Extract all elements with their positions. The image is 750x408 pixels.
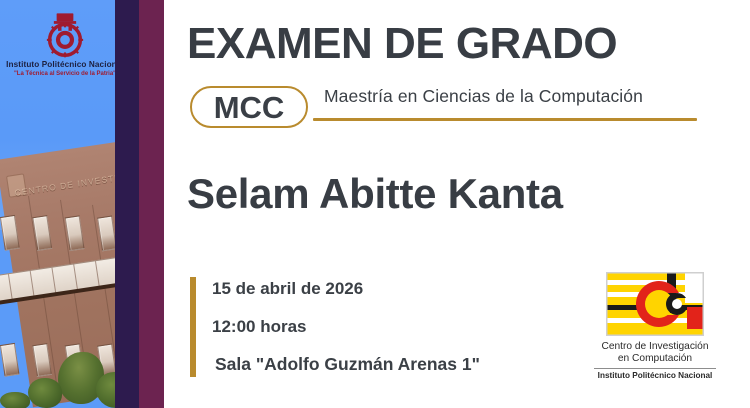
window <box>0 343 19 377</box>
ipn-logo-name: Instituto Politécnico Nacional <box>6 61 124 70</box>
page-title: EXAMEN DE GRADO <box>187 22 617 66</box>
left-image-panel: CENTRO DE INVESTIGACIÓN EN COMPUTACIÓN <box>0 0 165 408</box>
cic-logo-line2: en Computación <box>570 353 740 365</box>
event-date: 15 de abril de 2026 <box>212 280 363 297</box>
cic-logo-title: Centro de Investigación en Computación <box>570 341 740 365</box>
details-accent-bar <box>190 277 196 377</box>
window <box>32 343 52 377</box>
shrub <box>28 378 62 408</box>
program-badge: MCC <box>190 86 308 128</box>
graduation-exam-poster: CENTRO DE INVESTIGACIÓN EN COMPUTACIÓN <box>0 0 750 408</box>
window <box>0 215 20 251</box>
cic-building-photo: CENTRO DE INVESTIGACIÓN EN COMPUTACIÓN <box>0 0 130 408</box>
gold-divider <box>313 118 697 121</box>
student-name: Selam Abitte Kanta <box>187 170 563 218</box>
cic-logo-line1: Centro de Investigación <box>570 341 740 353</box>
cic-mark-icon <box>606 272 704 336</box>
maroon-accent-stripe <box>139 0 164 408</box>
program-name: Maestría en Ciencias de la Computación <box>324 86 643 107</box>
program-badge-label: MCC <box>214 92 285 123</box>
poster-content: EXAMEN DE GRADO MCC Maestría en Ciencias… <box>165 0 750 408</box>
cic-logo: Centro de Investigación en Computación I… <box>570 272 740 383</box>
cic-logo-institution: Instituto Politécnico Nacional <box>594 368 717 380</box>
indigo-accent-stripe <box>115 0 139 408</box>
ipn-logo: Instituto Politécnico Nacional "La Técni… <box>6 12 124 77</box>
event-time: 12:00 horas <box>212 318 307 335</box>
event-venue: Sala "Adolfo Guzmán Arenas 1" <box>215 356 480 374</box>
shrub <box>0 392 30 408</box>
ipn-seal-icon <box>44 12 86 58</box>
ipn-logo-motto: "La Técnica al Servicio de la Patria" <box>6 71 124 77</box>
